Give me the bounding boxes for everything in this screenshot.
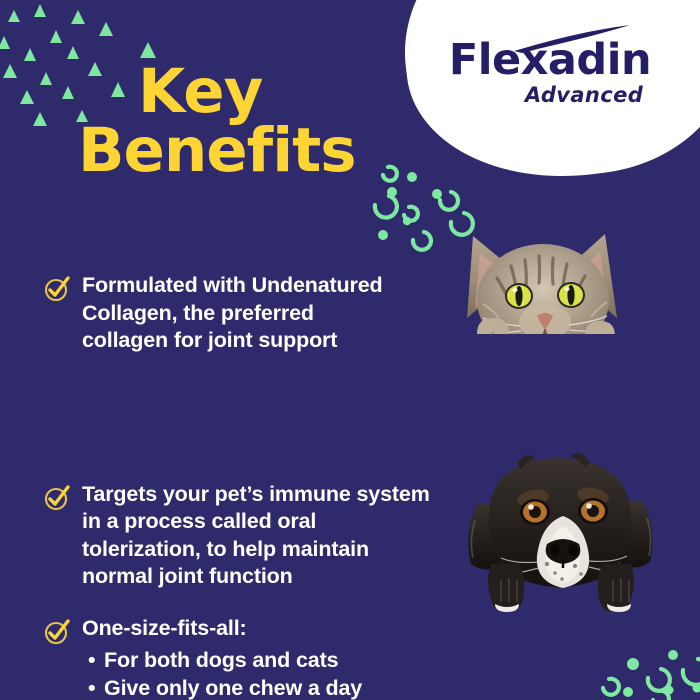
benefit-item-1: Formulated with Undenatured Collagen, th… — [44, 272, 524, 355]
sub-item-2: •Give only one chew a day — [88, 675, 524, 700]
benefit-text-3: One-size-fits-all: — [82, 615, 247, 643]
benefit-1-line-1: Formulated with Undenatured — [82, 273, 383, 297]
check-circle-icon — [44, 485, 70, 511]
benefit-1-line-2: Collagen, the preferred — [82, 301, 314, 325]
benefit-2-line-2: in a process called oral — [82, 509, 316, 533]
sub-item-1: •For both dogs and cats — [88, 647, 524, 675]
benefits-list: Formulated with Undenatured Collagen, th… — [44, 272, 524, 700]
flexadin-key-benefits-poster: Flexadin Advanced Key Benefits — [0, 0, 700, 700]
benefit-1-line-3: collagen for joint support — [82, 328, 337, 352]
page-title-line-2: Benefits — [78, 121, 408, 180]
benefit-3-line-1: One-size-fits-all: — [82, 616, 247, 640]
sub-item-2-label: Give only one chew a day — [104, 676, 362, 700]
benefit-2-line-4: normal joint function — [82, 564, 293, 588]
benefit-2-line-3: tolerization, to help maintain — [82, 537, 369, 561]
check-circle-icon — [44, 276, 70, 302]
benefit-text-2: Targets your pet’s immune system in a pr… — [82, 481, 430, 591]
benefit-2-line-1: Targets your pet’s immune system — [82, 482, 430, 506]
logo-swoosh-icon — [512, 24, 634, 54]
sub-bullet-icon: • — [88, 675, 104, 700]
sub-bullet-icon: • — [88, 647, 104, 675]
page-title: Key Benefits — [78, 62, 408, 180]
page-title-line-1: Key — [138, 62, 408, 121]
brand-tagline: Advanced — [525, 85, 643, 106]
check-circle-icon — [44, 619, 70, 645]
benefit-text-1: Formulated with Undenatured Collagen, th… — [82, 272, 383, 355]
benefit-item-2: Targets your pet’s immune system in a pr… — [44, 481, 524, 591]
benefit-item-3: One-size-fits-all: — [44, 615, 524, 645]
brand-logo: Flexadin Advanced — [420, 26, 680, 118]
sub-item-1-label: For both dogs and cats — [104, 648, 338, 672]
benefit-3-sublist: •For both dogs and cats •Give only one c… — [88, 647, 524, 700]
